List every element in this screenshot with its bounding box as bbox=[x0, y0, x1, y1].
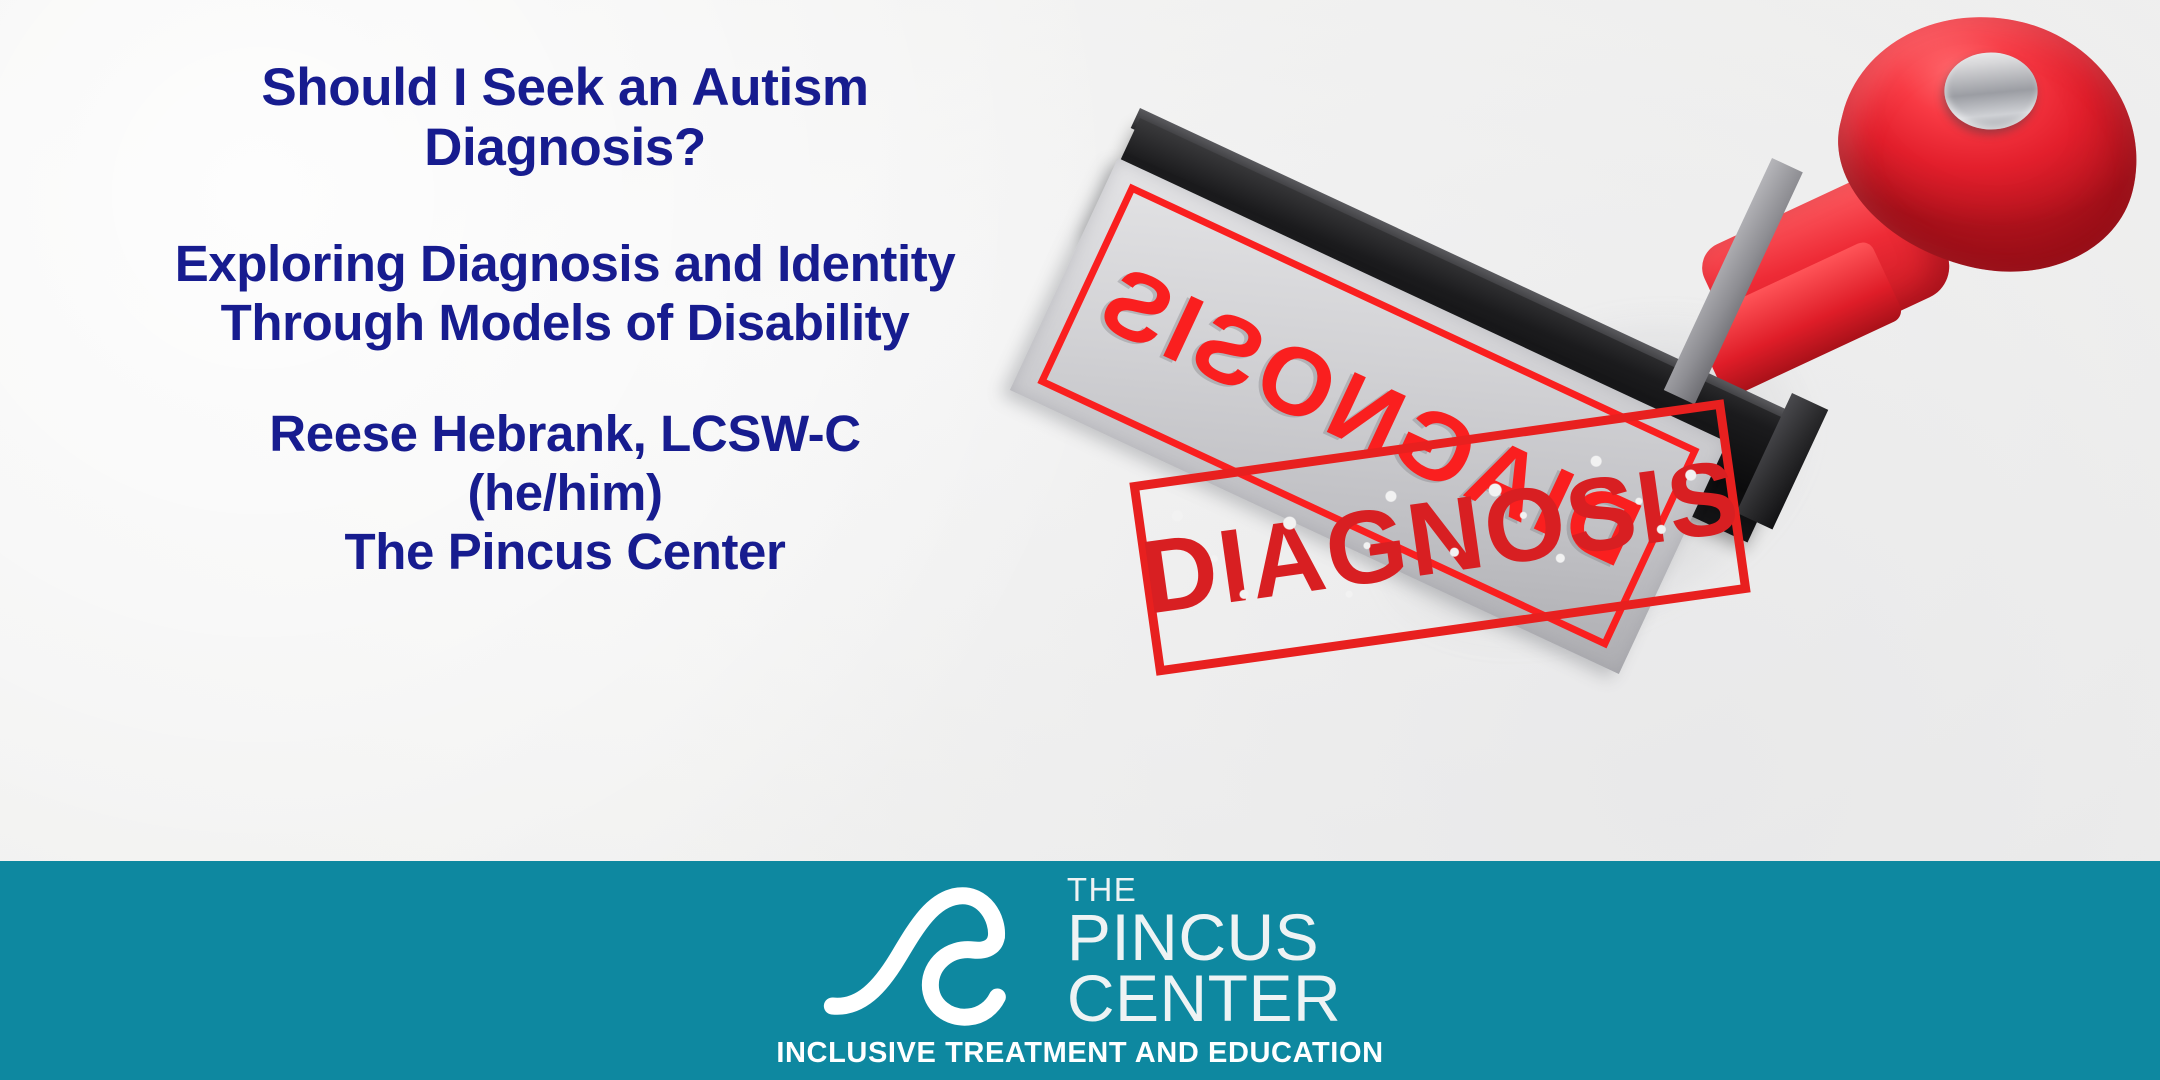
logo-word-pincus: PINCUS bbox=[1067, 907, 1319, 968]
pincus-center-logo: THE PINCUS CENTER INCLUSIVE TREATMENT AN… bbox=[776, 875, 1383, 1070]
logo-row: THE PINCUS CENTER bbox=[819, 875, 1341, 1029]
presenter-organization: The Pincus Center bbox=[100, 522, 1030, 581]
title-subtitle-spacer bbox=[100, 178, 1030, 234]
slide-title-line-1: Should I Seek an Autism bbox=[100, 58, 1030, 118]
subtitle-presenter-spacer bbox=[100, 352, 1030, 404]
pincus-wave-mark-icon bbox=[819, 877, 1055, 1027]
slide-subtitle-line-2: Through Models of Disability bbox=[100, 293, 1030, 352]
slide-text-column: Should I Seek an Autism Diagnosis? Explo… bbox=[100, 58, 1030, 582]
presenter-name: Reese Hebrank, LCSW-C bbox=[100, 404, 1030, 463]
footer-bar: THE PINCUS CENTER INCLUSIVE TREATMENT AN… bbox=[0, 861, 2160, 1080]
slide-subtitle-line-1: Exploring Diagnosis and Identity bbox=[100, 234, 1030, 293]
diagnosis-stamp-illustration: DIAGNOSIS DIAGNOSIS bbox=[1100, 0, 2160, 861]
presentation-slide: Should I Seek an Autism Diagnosis? Explo… bbox=[0, 0, 2160, 1080]
presenter-pronouns: (he/him) bbox=[100, 463, 1030, 522]
logo-word-center: CENTER bbox=[1067, 968, 1341, 1029]
logo-tagline: INCLUSIVE TREATMENT AND EDUCATION bbox=[776, 1037, 1383, 1070]
slide-title-line-2: Diagnosis? bbox=[100, 118, 1030, 178]
logo-wordmark: THE PINCUS CENTER bbox=[1067, 875, 1341, 1029]
